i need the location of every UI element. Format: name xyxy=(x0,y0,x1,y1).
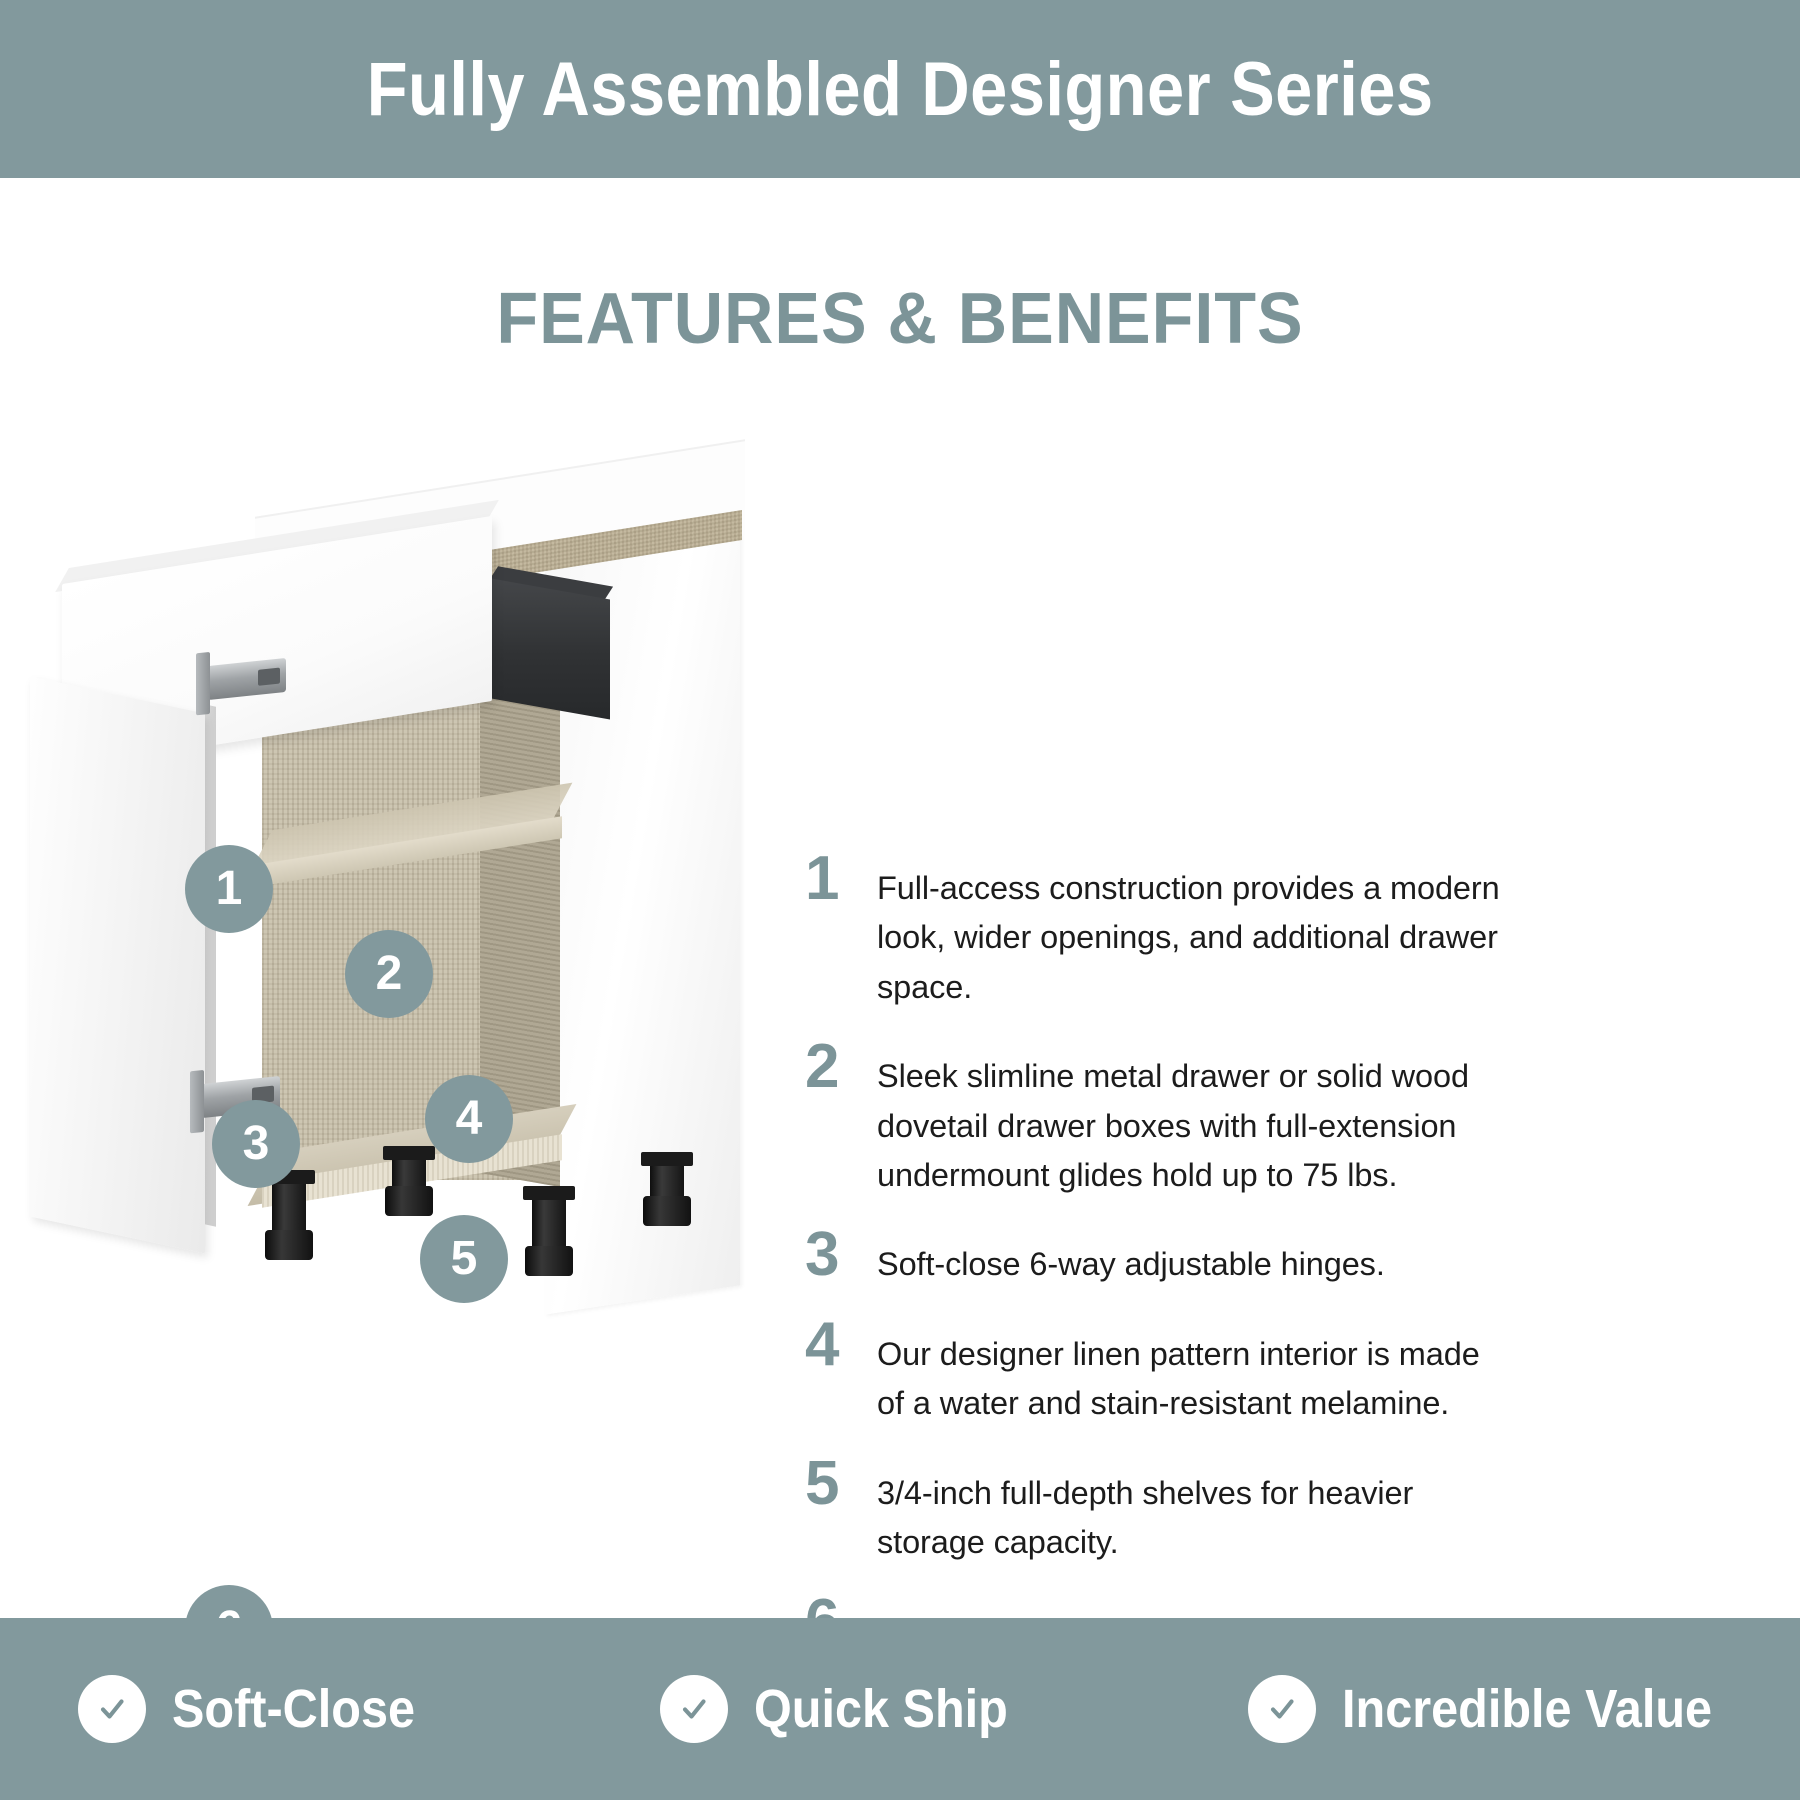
check-circle-icon xyxy=(78,1675,146,1743)
feature-number: 2 xyxy=(805,1038,877,1097)
feature-description: Our designer linen pattern interior is m… xyxy=(877,1316,1505,1429)
feature-number: 4 xyxy=(805,1316,877,1375)
header-bar: Fully Assembled Designer Series xyxy=(0,0,1800,178)
adjustable-leg xyxy=(532,1196,566,1270)
feature-item: 3 Soft-close 6-way adjustable hinges. xyxy=(805,1226,1505,1289)
footer-badge-quick-ship: Quick Ship xyxy=(660,1675,1036,1743)
page-title: Fully Assembled Designer Series xyxy=(367,46,1434,133)
callout-badge-3[interactable]: 3 xyxy=(212,1100,300,1188)
adjustable-leg xyxy=(650,1162,684,1220)
section-heading: FEATURES & BENEFITS xyxy=(45,278,1755,360)
check-circle-icon xyxy=(660,1675,728,1743)
footer-label: Quick Ship xyxy=(754,1678,1008,1740)
callout-badge-4[interactable]: 4 xyxy=(425,1075,513,1163)
feature-item: 2 Sleek slimline metal drawer or solid w… xyxy=(805,1038,1505,1200)
feature-list: 1 Full-access construction provides a mo… xyxy=(805,850,1505,1732)
main-content: 1 2 3 4 5 6 1 Full-access construction p… xyxy=(0,400,1800,1600)
feature-item: 4 Our designer linen pattern interior is… xyxy=(805,1316,1505,1429)
callout-badge-5[interactable]: 5 xyxy=(420,1215,508,1303)
metal-drawer-box xyxy=(480,577,610,720)
feature-description: 3/4-inch full-depth shelves for heavier … xyxy=(877,1455,1505,1568)
cabinet-door xyxy=(30,676,205,1253)
feature-number: 3 xyxy=(805,1226,877,1285)
feature-item: 5 3/4-inch full-depth shelves for heavie… xyxy=(805,1455,1505,1568)
feature-item: 1 Full-access construction provides a mo… xyxy=(805,850,1505,1012)
feature-number: 1 xyxy=(805,850,877,909)
feature-number: 5 xyxy=(805,1455,877,1514)
footer-label: Incredible Value xyxy=(1342,1678,1712,1740)
feature-description: Sleek slimline metal drawer or solid woo… xyxy=(877,1038,1505,1200)
adjustable-leg xyxy=(272,1180,306,1254)
callout-badge-1[interactable]: 1 xyxy=(185,845,273,933)
check-circle-icon xyxy=(1248,1675,1316,1743)
cabinet-illustration xyxy=(40,440,800,1340)
feature-description: Full-access construction provides a mode… xyxy=(877,850,1505,1012)
footer-badge-soft-close: Soft-Close xyxy=(78,1675,442,1743)
footer-badge-incredible-value: Incredible Value xyxy=(1248,1675,1753,1743)
footer-bar: Soft-Close Quick Ship Incredible Value xyxy=(0,1618,1800,1800)
adjustable-leg xyxy=(392,1156,426,1210)
footer-label: Soft-Close xyxy=(172,1678,415,1740)
feature-description: Soft-close 6-way adjustable hinges. xyxy=(877,1226,1505,1289)
callout-badge-2[interactable]: 2 xyxy=(345,930,433,1018)
